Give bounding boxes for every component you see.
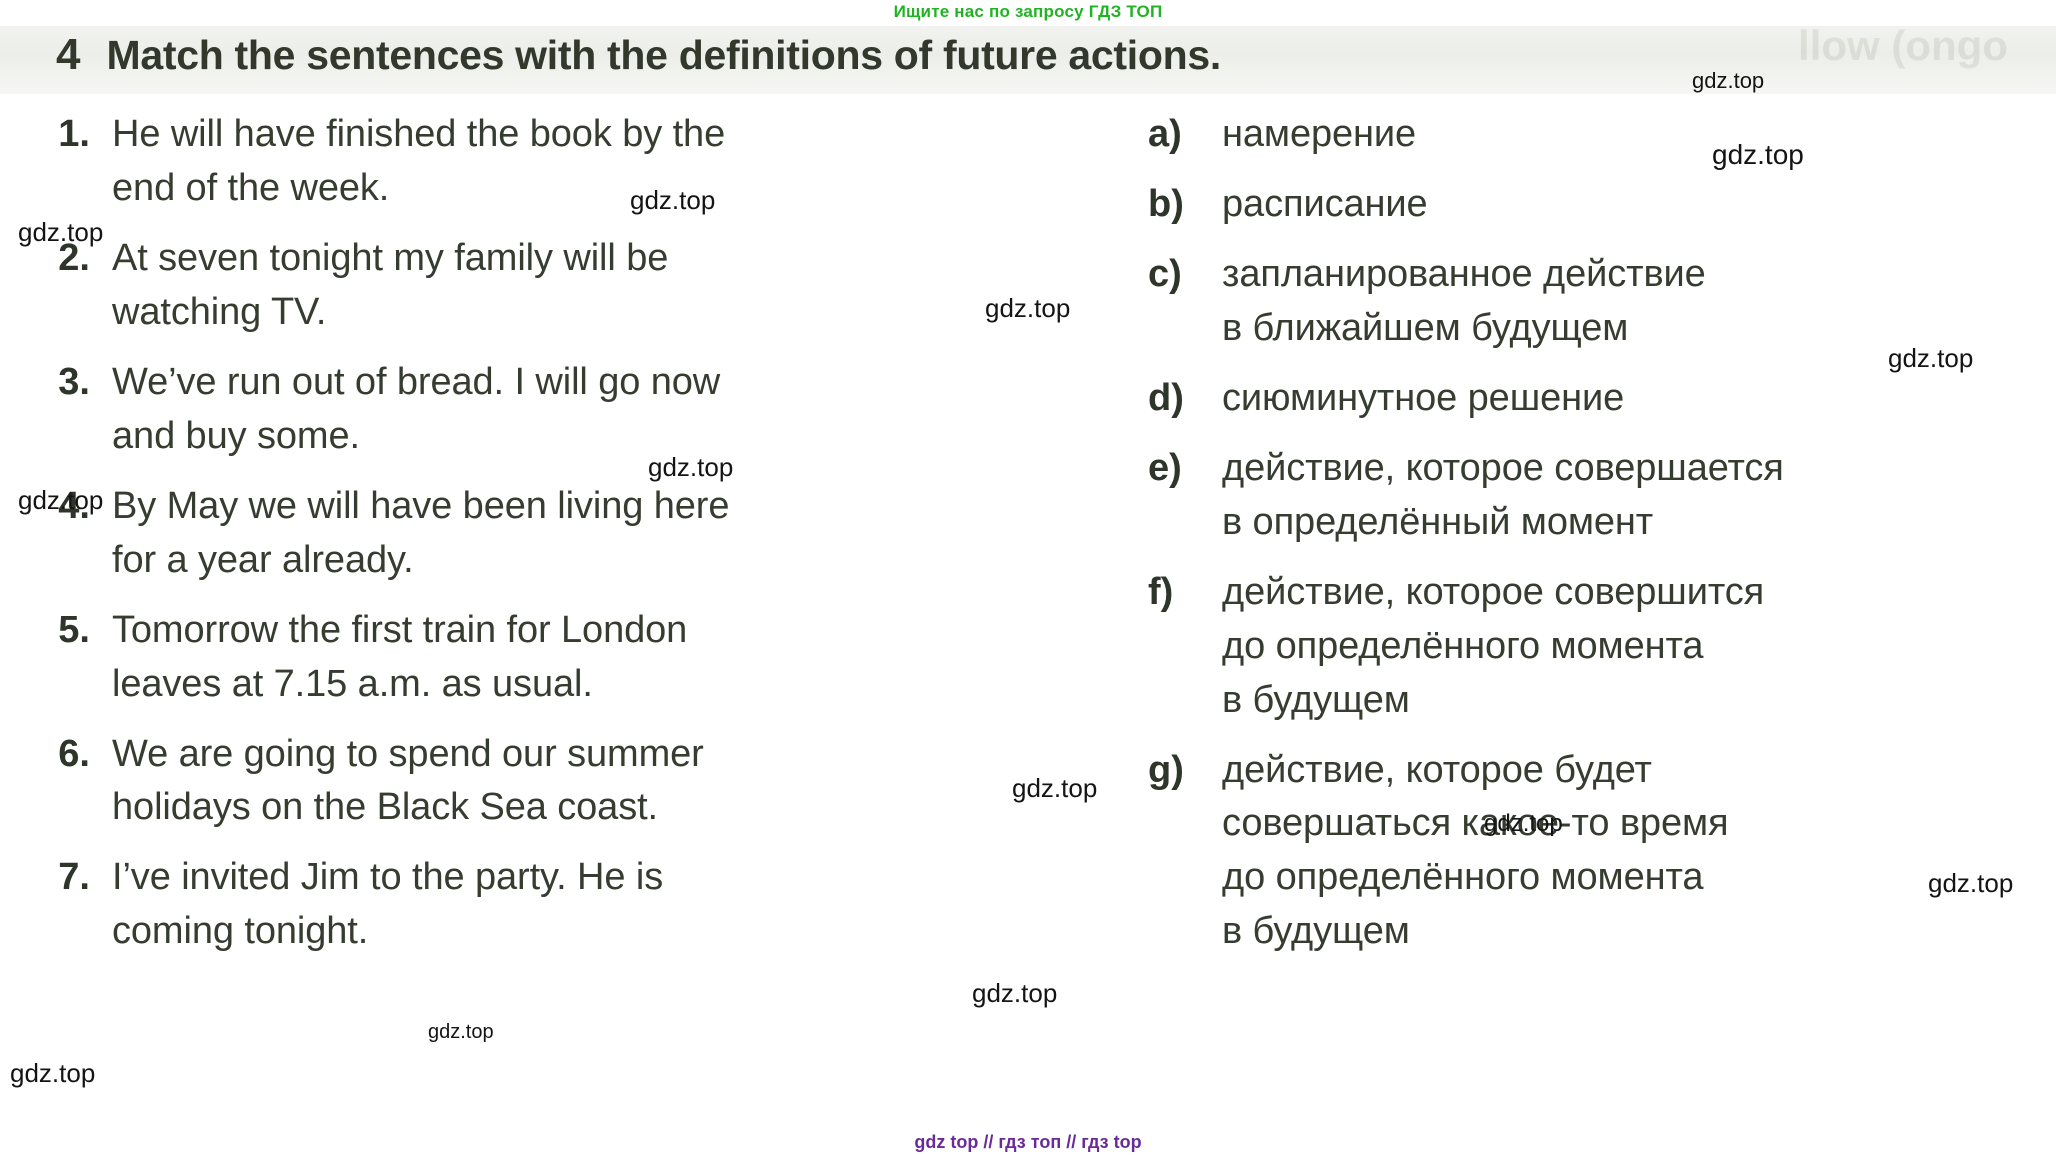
definition-item[interactable]: c)запланированное действиев ближайшем бу… [1140,248,2056,356]
sentence-marker: 3. [34,356,112,410]
definition-marker: b) [1140,178,1222,232]
definition-item[interactable]: e)действие, которое совершаетсяв определ… [1140,442,2056,550]
sentence-text: We are going to spend our summerholidays… [112,728,704,836]
sentence-line: He will have finished the book by the [112,108,725,162]
matching-columns: 1.He will have finished the book by thee… [0,108,2056,975]
watermark: gdz.top [428,1021,494,1044]
sentence-line: for a year already. [112,534,729,588]
definition-line: в определённый момент [1222,496,1784,550]
sentence-line: holidays on the Black Sea coast. [112,781,704,835]
exercise-title: Match the sentences with the definitions… [106,32,1220,79]
sentence-item[interactable]: 5.Tomorrow the first train for Londonlea… [34,604,1120,712]
sentences-column: 1.He will have finished the book by thee… [0,108,1120,975]
definition-line: запланированное действие [1222,248,1706,302]
definition-text: сиюминутное решение [1222,372,1624,426]
sentence-text: I’ve invited Jim to the party. He iscomi… [112,851,663,959]
definition-marker: g) [1140,744,1222,798]
watermark: gdz.top [972,978,1057,1009]
definition-line: действие, которое будет [1222,744,1729,798]
definition-line: действие, которое совершается [1222,442,1784,496]
sentence-item[interactable]: 3.We’ve run out of bread. I will go nowa… [34,356,1120,464]
definition-text: действие, которое совершаетсяв определён… [1222,442,1784,550]
sentence-line: watching TV. [112,286,668,340]
sentence-marker: 6. [34,728,112,782]
sentence-marker: 5. [34,604,112,658]
definition-line: в будущем [1222,905,1729,959]
promo-banner: Ищите нас по запросу ГДЗ ТОП [0,2,2056,22]
sentence-item[interactable]: 7.I’ve invited Jim to the party. He isco… [34,851,1120,959]
watermark: gdz.top [10,1058,95,1089]
footer-watermark: gdz top // гдз топ // гдз top [0,1132,2056,1153]
sentence-text: He will have finished the book by theend… [112,108,725,216]
exercise-number: 4 [56,30,80,80]
sentence-line: Tomorrow the first train for London [112,604,687,658]
sentence-marker: 4. [34,480,112,534]
definition-line: до определённого момента [1222,851,1729,905]
sentence-line: end of the week. [112,162,725,216]
sentence-marker: 7. [34,851,112,905]
definition-text: действие, которое будетсовершаться какое… [1222,744,1729,960]
sentence-line: I’ve invited Jim to the party. He is [112,851,663,905]
sentence-text: Tomorrow the first train for Londonleave… [112,604,687,712]
sentence-line: We’ve run out of bread. I will go now [112,356,720,410]
sentence-item[interactable]: 1.He will have finished the book by thee… [34,108,1120,216]
definition-line: до определённого момента [1222,620,1764,674]
sentence-text: We’ve run out of bread. I will go nowand… [112,356,720,464]
sentence-marker: 2. [34,232,112,286]
sentence-text: At seven tonight my family will bewatchi… [112,232,668,340]
sentence-item[interactable]: 4.By May we will have been living herefo… [34,480,1120,588]
definition-item[interactable]: f)действие, которое совершитсядо определ… [1140,566,2056,728]
definition-item[interactable]: d)сиюминутное решение [1140,372,2056,426]
definition-marker: f) [1140,566,1222,620]
sentence-text: By May we will have been living herefor … [112,480,729,588]
definition-marker: c) [1140,248,1222,302]
definition-marker: d) [1140,372,1222,426]
definition-line: совершаться какое-то время [1222,797,1729,851]
sentence-line: By May we will have been living here [112,480,729,534]
definition-item[interactable]: a)намерение [1140,108,2056,162]
sentence-item[interactable]: 6.We are going to spend our summerholida… [34,728,1120,836]
definition-line: в будущем [1222,674,1764,728]
sentence-line: At seven tonight my family will be [112,232,668,286]
definition-item[interactable]: g)действие, которое будетсовершаться как… [1140,744,2056,960]
definition-line: намерение [1222,108,1416,162]
definition-text: действие, которое совершитсядо определён… [1222,566,1764,728]
sentence-marker: 1. [34,108,112,162]
sentence-line: We are going to spend our summer [112,728,704,782]
exercise-header: 4 Match the sentences with the definitio… [56,30,1221,80]
definition-text: намерение [1222,108,1416,162]
sentence-line: leaves at 7.15 a.m. as usual. [112,658,687,712]
sentence-item[interactable]: 2.At seven tonight my family will bewatc… [34,232,1120,340]
sentence-line: coming tonight. [112,905,663,959]
sentence-line: and buy some. [112,410,720,464]
definition-line: расписание [1222,178,1428,232]
definition-item[interactable]: b)расписание [1140,178,2056,232]
definition-line: в ближайшем будущем [1222,302,1706,356]
definitions-column: a)намерениеb)расписаниеc)запланированное… [1120,108,2056,975]
definition-text: расписание [1222,178,1428,232]
definition-marker: e) [1140,442,1222,496]
definition-line: действие, которое совершится [1222,566,1764,620]
definition-line: сиюминутное решение [1222,372,1624,426]
definition-marker: a) [1140,108,1222,162]
worksheet-page: Ищите нас по запросу ГДЗ ТОП llow (ongo … [0,0,2056,1161]
definition-text: запланированное действиев ближайшем буду… [1222,248,1706,356]
